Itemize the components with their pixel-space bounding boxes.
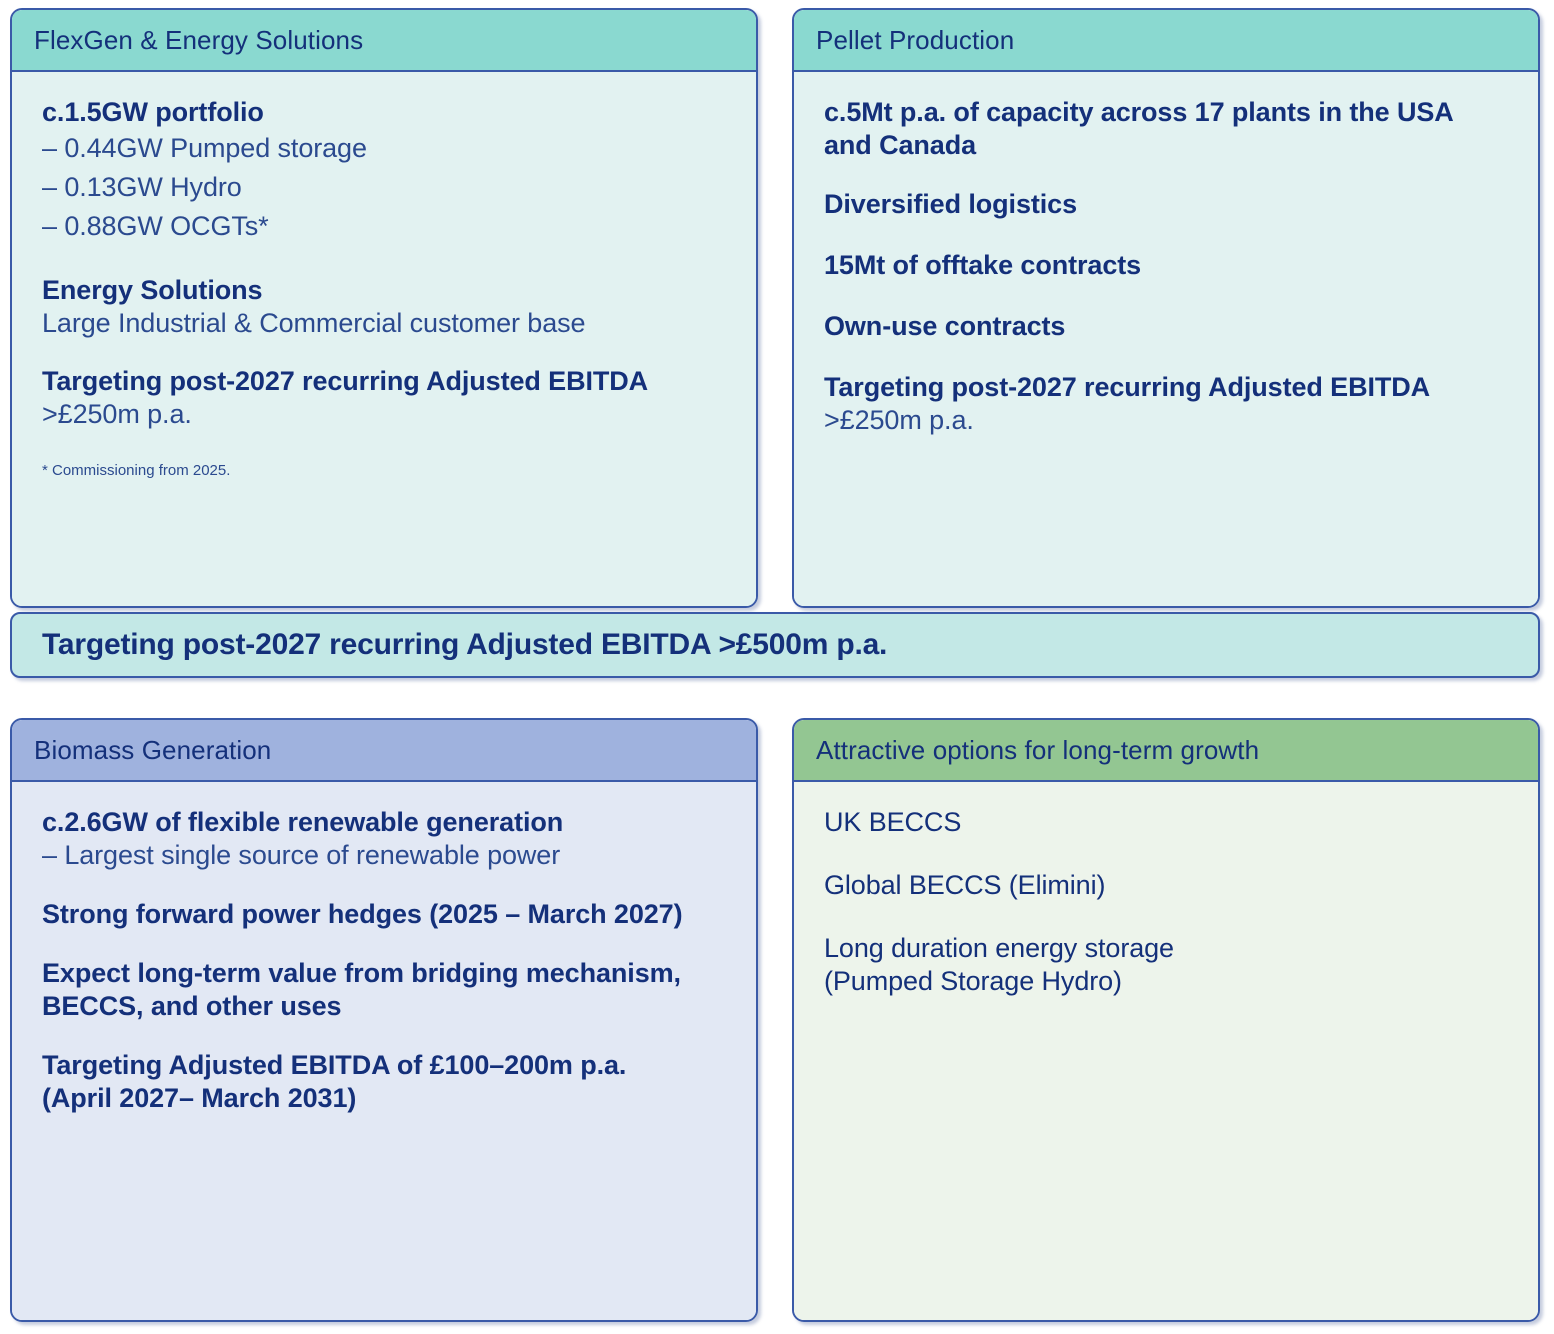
pellet-logistics: Diversified logistics [824,188,1512,221]
biomass-hedges-text: Strong forward power hedges (2025 – Marc… [42,898,730,931]
growth-option-storage-line-2: (Pumped Storage Hydro) [824,965,1512,998]
card-header-growth: Attractive options for long-term growth [794,720,1538,782]
growth-option-global-beccs: Global BECCS (Elimini) [824,869,1512,902]
card-title-pellet: Pellet Production [816,27,1014,53]
pellet-target-block: Targeting post-2027 recurring Adjusted E… [824,371,1512,437]
growth-option-uk-beccs: UK BECCS [824,806,1512,839]
card-header-pellet: Pellet Production [794,10,1538,72]
list-item: – 0.13GW Hydro [42,168,730,207]
list-item: – 0.88GW OCGTs* [42,207,730,246]
biomass-capacity-sub: – Largest single source of renewable pow… [42,839,730,872]
card-body-flexgen: c.1.5GW portfolio – 0.44GW Pumped storag… [12,72,756,608]
card-flexgen-energy-solutions: FlexGen & Energy Solutions c.1.5GW portf… [10,8,758,608]
biomass-value-line-2: BECCS, and other uses [42,990,730,1023]
card-body-growth: UK BECCS Global BECCS (Elimini) Long dur… [794,782,1538,1322]
flexgen-portfolio-heading: c.1.5GW portfolio [42,96,730,129]
flexgen-target-line-1: Targeting post-2027 recurring Adjusted E… [42,365,730,398]
card-biomass-generation: Biomass Generation c.2.6GW of flexible r… [10,718,758,1322]
flexgen-target-line-2: >£250m p.a. [42,398,730,431]
pellet-offtake: 15Mt of offtake contracts [824,249,1512,282]
pellet-own-use: Own-use contracts [824,310,1512,343]
card-body-biomass: c.2.6GW of flexible renewable generation… [12,782,756,1322]
card-header-flexgen: FlexGen & Energy Solutions [12,10,756,72]
pellet-capacity-line-1: c.5Mt p.a. of capacity across 17 plants … [824,96,1512,129]
growth-option-storage-line-1: Long duration energy storage [824,932,1512,965]
list-item: – 0.44GW Pumped storage [42,129,730,168]
card-header-biomass: Biomass Generation [12,720,756,782]
biomass-value-line-1: Expect long-term value from bridging mec… [42,957,730,990]
flexgen-energy-solutions-block: Energy Solutions Large Industrial & Comm… [42,274,730,340]
pellet-target-line-2: >£250m p.a. [824,404,1512,437]
summary-banner: Targeting post-2027 recurring Adjusted E… [10,612,1540,678]
flexgen-energy-solutions-text: Large Industrial & Commercial customer b… [42,307,730,340]
growth-option-storage-block: Long duration energy storage (Pumped Sto… [824,932,1512,998]
biomass-target-line-2: (April 2027– March 2031) [42,1082,730,1115]
pellet-target-line-1: Targeting post-2027 recurring Adjusted E… [824,371,1512,404]
biomass-capacity-block: c.2.6GW of flexible renewable generation… [42,806,730,872]
card-title-biomass: Biomass Generation [34,737,271,763]
pellet-capacity-line-2: and Canada [824,129,1512,162]
slide-canvas: FlexGen & Energy Solutions c.1.5GW portf… [0,0,1554,1334]
flexgen-energy-solutions-heading: Energy Solutions [42,274,730,307]
card-title-flexgen: FlexGen & Energy Solutions [34,27,363,53]
biomass-target-line-1: Targeting Adjusted EBITDA of £100–200m p… [42,1049,730,1082]
biomass-target-block: Targeting Adjusted EBITDA of £100–200m p… [42,1049,730,1115]
flexgen-target-block: Targeting post-2027 recurring Adjusted E… [42,365,730,431]
biomass-capacity-heading: c.2.6GW of flexible renewable generation [42,806,730,839]
biomass-hedges-block: Strong forward power hedges (2025 – Marc… [42,898,730,931]
flexgen-portfolio-block: c.1.5GW portfolio – 0.44GW Pumped storag… [42,96,730,246]
biomass-value-block: Expect long-term value from bridging mec… [42,957,730,1023]
card-pellet-production: Pellet Production c.5Mt p.a. of capacity… [792,8,1540,608]
card-title-growth: Attractive options for long-term growth [816,737,1259,763]
card-body-pellet: c.5Mt p.a. of capacity across 17 plants … [794,72,1538,608]
pellet-capacity-block: c.5Mt p.a. of capacity across 17 plants … [824,96,1512,162]
card-attractive-growth-options: Attractive options for long-term growth … [792,718,1540,1322]
flexgen-portfolio-list: – 0.44GW Pumped storage – 0.13GW Hydro –… [42,129,730,246]
flexgen-footnote: * Commissioning from 2025. [42,461,730,481]
summary-banner-text: Targeting post-2027 recurring Adjusted E… [42,630,887,660]
